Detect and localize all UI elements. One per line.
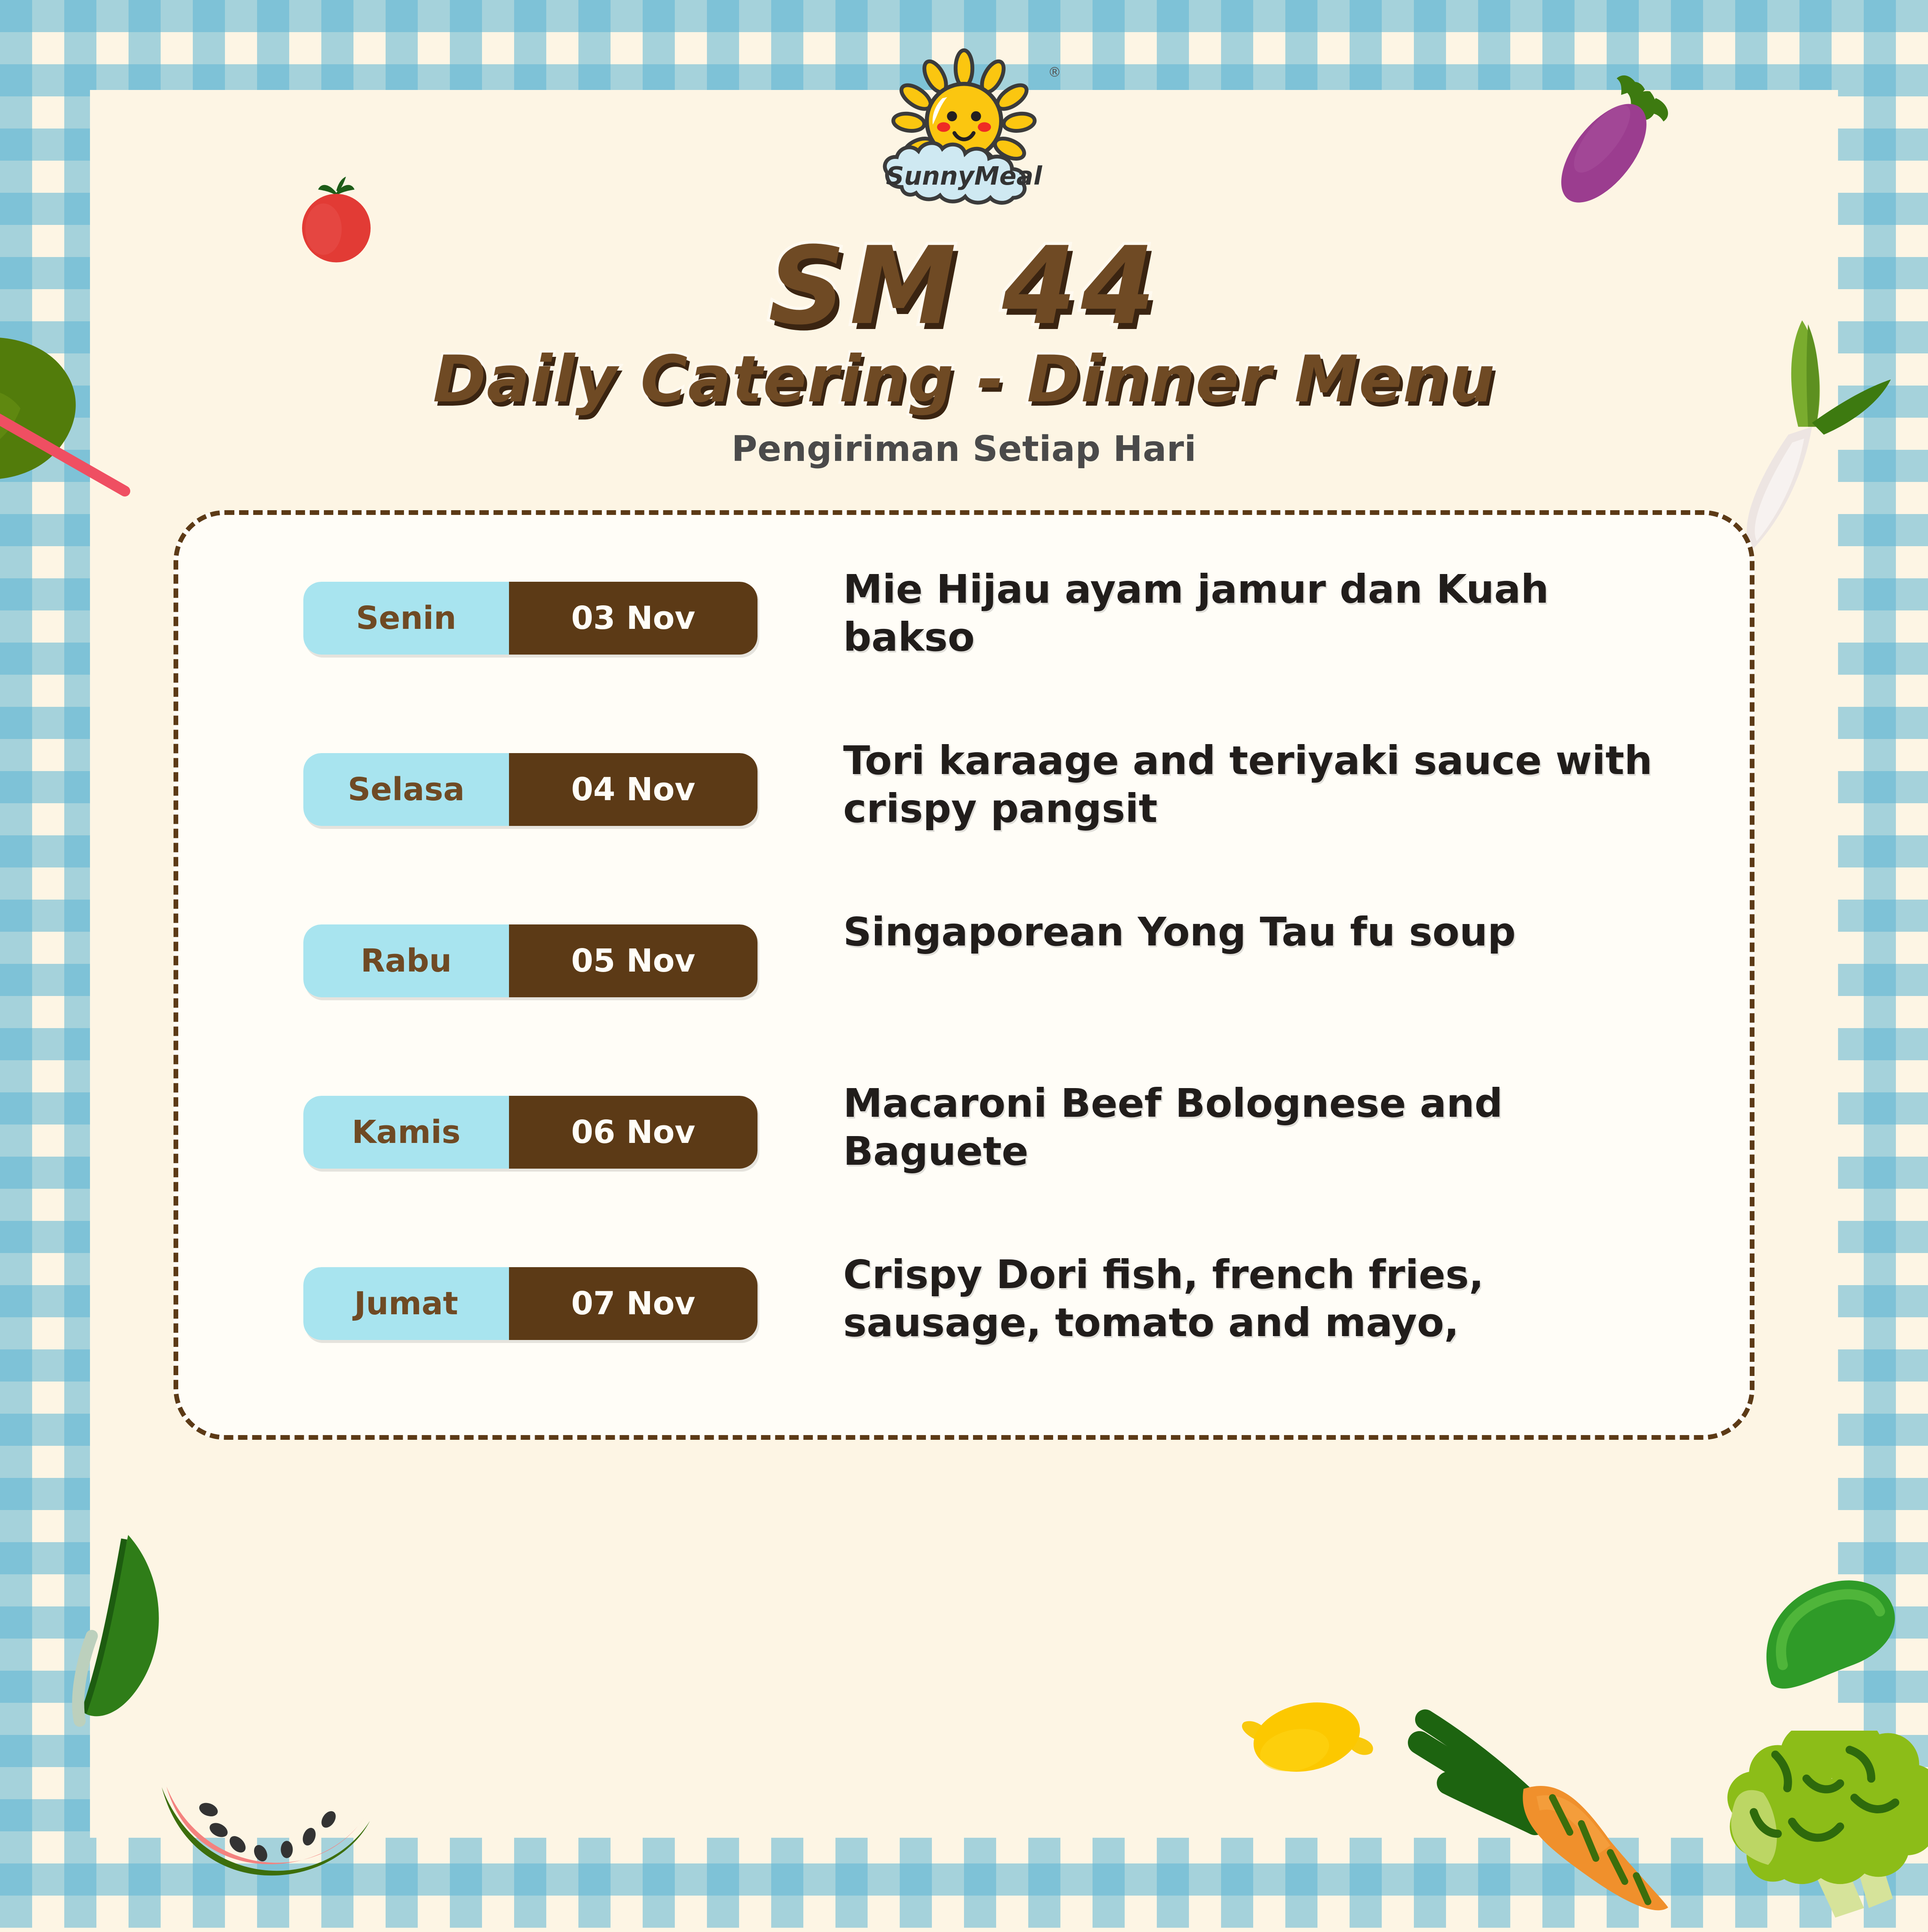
menu-row: Selasa 04 Nov Tori karaage and teriyaki … — [178, 737, 1750, 908]
menu-row: Senin 03 Nov Mie Hijau ayam jamur dan Ku… — [178, 565, 1750, 737]
date-label: 03 Nov — [509, 582, 757, 655]
date-label: 04 Nov — [509, 753, 757, 826]
page-title: SM 44 — [768, 233, 1160, 340]
page-subtitle: Daily Catering - Dinner Menu — [433, 347, 1495, 412]
day-date-pill: Senin 03 Nov — [303, 582, 757, 655]
menu-description: Macaroni Beef Bolognese and Baguete — [843, 1080, 1750, 1175]
menu-row: Rabu 05 Nov Singaporean Yong Tau fu soup — [178, 908, 1750, 1080]
logo-wordmark: SunnyMeal — [886, 161, 1042, 191]
menu-description: Singaporean Yong Tau fu soup — [843, 908, 1750, 956]
day-label: Senin — [303, 582, 509, 655]
day-label: Jumat — [303, 1267, 509, 1340]
menu-card: Senin 03 Nov Mie Hijau ayam jamur dan Ku… — [174, 510, 1754, 1440]
day-label: Selasa — [303, 753, 509, 826]
brand-logo: SunnyMeal ® — [844, 41, 1084, 221]
menu-description: Crispy Dori fish, french fries, sausage,… — [843, 1251, 1750, 1347]
date-label: 06 Nov — [509, 1096, 757, 1169]
day-date-pill: Selasa 04 Nov — [303, 753, 757, 826]
day-date-pill: Rabu 05 Nov — [303, 924, 757, 997]
day-date-pill: Kamis 06 Nov — [303, 1096, 757, 1169]
trademark-icon: ® — [1048, 65, 1061, 80]
day-label: Rabu — [303, 924, 509, 997]
menu-row: Jumat 07 Nov Crispy Dori fish, french fr… — [178, 1251, 1750, 1422]
tagline: Pengiriman Setiap Hari — [731, 429, 1196, 470]
menu-row: Kamis 06 Nov Macaroni Beef Bolognese and… — [178, 1080, 1750, 1251]
menu-description: Tori karaage and teriyaki sauce with cri… — [843, 737, 1750, 833]
day-label: Kamis — [303, 1096, 509, 1169]
date-label: 05 Nov — [509, 924, 757, 997]
date-label: 07 Nov — [509, 1267, 757, 1340]
menu-description: Mie Hijau ayam jamur dan Kuah bakso — [843, 565, 1750, 661]
day-date-pill: Jumat 07 Nov — [303, 1267, 757, 1340]
